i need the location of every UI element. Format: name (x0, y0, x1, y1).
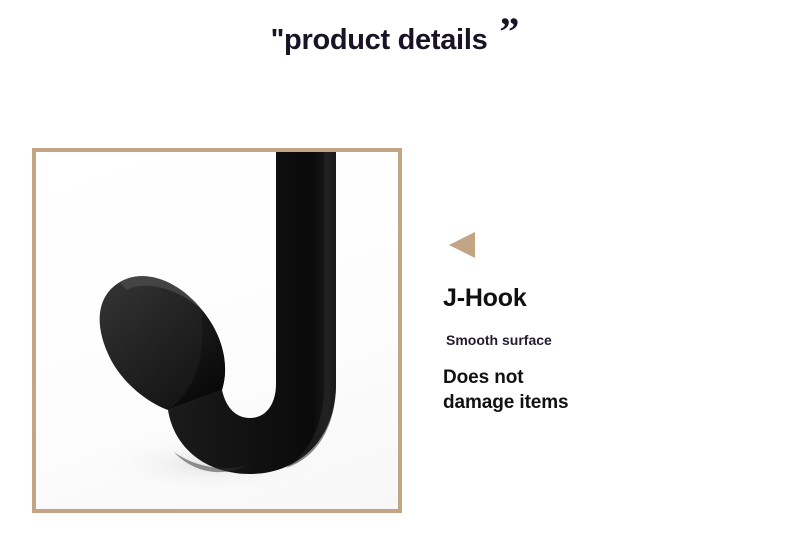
product-benefit-line-2: damage items (443, 391, 743, 416)
page-title-text: "product details (271, 24, 488, 57)
j-hook-illustration (36, 152, 398, 509)
product-photo-frame (32, 148, 402, 513)
closing-quote-mark: ” (499, 12, 519, 52)
product-callout: J-Hook Smooth surface Does not damage it… (443, 232, 743, 416)
product-name: J-Hook (443, 285, 743, 311)
product-details-page: "product details” (0, 0, 790, 535)
product-feature-subtitle: Smooth surface (446, 332, 743, 348)
product-benefit-line-1: Does not (443, 366, 743, 391)
page-title: "product details” (0, 20, 790, 60)
left-triangle-icon (449, 232, 475, 258)
product-benefit: Does not damage items (443, 366, 743, 415)
product-photo (36, 152, 398, 509)
